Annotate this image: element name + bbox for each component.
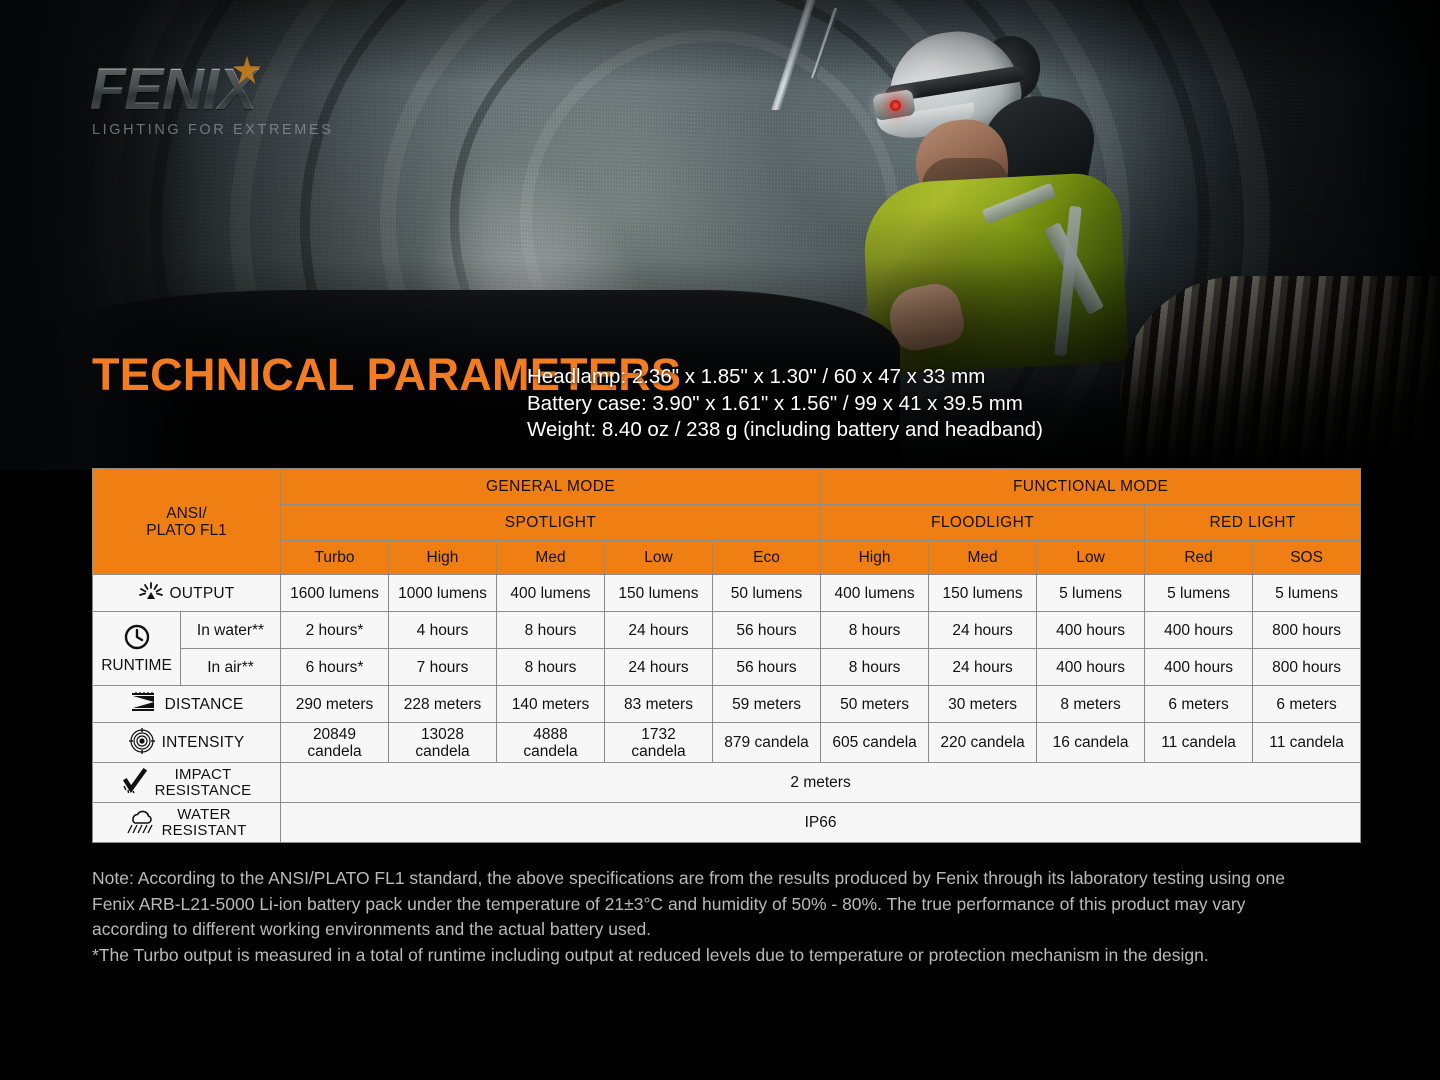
product-spec-page: FENIX LIGHTING FOR EXTREMES TECHNICAL PA…: [0, 0, 1440, 1080]
cell-output-flood-low: 5 lumens: [1037, 575, 1145, 612]
cell-output-spot-high: 1000 lumens: [389, 575, 497, 612]
cell-runtime-water-flood-low: 400 hours: [1037, 612, 1145, 649]
level-spot-low: Low: [605, 541, 713, 575]
table-header-level-row: Turbo High Med Low Eco High Med Low Red …: [93, 541, 1361, 575]
row-label-runtime: RUNTIME: [93, 612, 181, 686]
cell-output-flood-med: 150 lumens: [929, 575, 1037, 612]
brand-tagline: LIGHTING FOR EXTREMES: [92, 122, 334, 138]
cell-runtime-water-turbo: 2 hours*: [281, 612, 389, 649]
cell-runtime-air-turbo: 6 hours*: [281, 649, 389, 686]
level-spot-eco: Eco: [713, 541, 821, 575]
cell-intensity-flood-med: 220 candela: [929, 723, 1037, 763]
table-header-mode-row: ANSI/ PLATO FL1 GENERAL MODE FUNCTIONAL …: [93, 469, 1361, 505]
row-label-water-resistant: WATERRESISTANT: [93, 803, 281, 843]
row-label-impact-resistance: IMPACTRESISTANCE: [93, 763, 281, 803]
cell-intensity-flood-high: 605 candela: [821, 723, 929, 763]
header-general-mode: GENERAL MODE: [281, 469, 821, 505]
level-red: Red: [1145, 541, 1253, 575]
table-row-runtime-in-air: In air** 6 hours* 7 hours 8 hours 24 hou…: [93, 649, 1361, 686]
row-label-distance: DISTANCE: [93, 686, 281, 723]
cell-output-flood-high: 400 lumens: [821, 575, 929, 612]
cell-intensity-sos: 11 candela: [1253, 723, 1361, 763]
level-spot-high: High: [389, 541, 497, 575]
level-flood-high: High: [821, 541, 929, 575]
cell-distance-flood-med: 30 meters: [929, 686, 1037, 723]
cell-output-spot-eco: 50 lumens: [713, 575, 821, 612]
cell-distance-red: 6 meters: [1145, 686, 1253, 723]
row-label-runtime-text: RUNTIME: [95, 657, 178, 674]
level-flood-low: Low: [1037, 541, 1145, 575]
cell-water-resistant-value: IP66: [281, 803, 1361, 843]
corner-line-1: ANSI/: [95, 505, 278, 522]
cell-distance-sos: 6 meters: [1253, 686, 1361, 723]
header-floodlight: FLOODLIGHT: [821, 505, 1145, 541]
cell-runtime-air-spot-low: 24 hours: [605, 649, 713, 686]
level-flood-med: Med: [929, 541, 1037, 575]
table-corner-label: ANSI/ PLATO FL1: [93, 469, 281, 575]
cell-intensity-spot-low: 1732 candela: [605, 723, 713, 763]
cell-intensity-spot-med: 4888 candela: [497, 723, 605, 763]
row-sublabel-in-air: In air**: [181, 649, 281, 686]
row-label-output-text: OUTPUT: [170, 585, 235, 602]
table-header-beam-row: SPOTLIGHT FLOODLIGHT RED LIGHT: [93, 505, 1361, 541]
level-spot-med: Med: [497, 541, 605, 575]
sun-burst-icon: [139, 581, 163, 605]
dimensions-text: Headlamp: 2.36" x 1.85" x 1.30" / 60 x 4…: [527, 364, 1043, 444]
cell-intensity-red: 11 candela: [1145, 723, 1253, 763]
intensity-target-icon: [129, 728, 155, 758]
row-sublabel-in-water: In water**: [181, 612, 281, 649]
cell-runtime-air-spot-high: 7 hours: [389, 649, 497, 686]
fenix-logo: FENIX LIGHTING FOR EXTREMES: [90, 60, 340, 152]
cell-runtime-air-flood-low: 400 hours: [1037, 649, 1145, 686]
table-row-runtime-in-water: RUNTIME In water** 2 hours* 4 hours 8 ho…: [93, 612, 1361, 649]
cell-output-spot-med: 400 lumens: [497, 575, 605, 612]
cell-distance-spot-eco: 59 meters: [713, 686, 821, 723]
table-row-water-resistant: WATERRESISTANT IP66: [93, 803, 1361, 843]
level-sos: SOS: [1253, 541, 1361, 575]
impact-line-1: IMPACT: [155, 767, 252, 783]
cell-distance-spot-low: 83 meters: [605, 686, 713, 723]
brand-wordmark: FENIX: [90, 60, 340, 120]
table-row-impact-resistance: IMPACTRESISTANCE 2 meters: [93, 763, 1361, 803]
cell-runtime-air-spot-eco: 56 hours: [713, 649, 821, 686]
cell-runtime-air-spot-med: 8 hours: [497, 649, 605, 686]
water-line-1: WATER: [162, 807, 247, 823]
cell-runtime-air-flood-high: 8 hours: [821, 649, 929, 686]
table-row-output: OUTPUT 1600 lumens 1000 lumens 400 lumen…: [93, 575, 1361, 612]
header-spotlight: SPOTLIGHT: [281, 505, 821, 541]
impact-check-icon: [122, 768, 148, 798]
cell-impact-resistance-value: 2 meters: [281, 763, 1361, 803]
beam-distance-icon: [130, 691, 158, 717]
technical-parameters-table: ANSI/ PLATO FL1 GENERAL MODE FUNCTIONAL …: [92, 468, 1361, 843]
impact-line-2: RESISTANCE: [155, 783, 252, 799]
cell-runtime-water-spot-eco: 56 hours: [713, 612, 821, 649]
water-line-2: RESISTANT: [162, 823, 247, 839]
table-row-intensity: INTENSITY 20849 candela 13028 candela 48…: [93, 723, 1361, 763]
cell-runtime-water-red: 400 hours: [1145, 612, 1253, 649]
cell-runtime-water-sos: 800 hours: [1253, 612, 1361, 649]
row-label-water-text: WATERRESISTANT: [162, 807, 247, 839]
cell-output-sos: 5 lumens: [1253, 575, 1361, 612]
cell-output-red: 5 lumens: [1145, 575, 1253, 612]
spec-table-wrap: ANSI/ PLATO FL1 GENERAL MODE FUNCTIONAL …: [92, 468, 1350, 843]
cell-runtime-water-flood-high: 8 hours: [821, 612, 929, 649]
cell-intensity-flood-low: 16 candela: [1037, 723, 1145, 763]
row-label-distance-text: DISTANCE: [165, 696, 244, 713]
cell-intensity-spot-high: 13028 candela: [389, 723, 497, 763]
cell-output-turbo: 1600 lumens: [281, 575, 389, 612]
header-red-light: RED LIGHT: [1145, 505, 1361, 541]
cell-runtime-water-spot-low: 24 hours: [605, 612, 713, 649]
cell-intensity-spot-eco: 879 candela: [713, 723, 821, 763]
row-label-impact-text: IMPACTRESISTANCE: [155, 767, 252, 799]
rain-cloud-icon: [127, 808, 155, 838]
header-functional-mode: FUNCTIONAL MODE: [821, 469, 1361, 505]
row-label-intensity-text: INTENSITY: [162, 734, 245, 751]
cell-intensity-turbo: 20849 candela: [281, 723, 389, 763]
cell-output-spot-low: 150 lumens: [605, 575, 713, 612]
cell-runtime-water-flood-med: 24 hours: [929, 612, 1037, 649]
row-label-output: OUTPUT: [93, 575, 281, 612]
clock-icon: [95, 623, 178, 655]
footnote-text: Note: According to the ANSI/PLATO FL1 st…: [92, 866, 1322, 968]
cell-distance-spot-med: 140 meters: [497, 686, 605, 723]
level-turbo: Turbo: [281, 541, 389, 575]
cell-runtime-air-sos: 800 hours: [1253, 649, 1361, 686]
cell-runtime-water-spot-med: 8 hours: [497, 612, 605, 649]
cell-distance-flood-low: 8 meters: [1037, 686, 1145, 723]
cell-distance-turbo: 290 meters: [281, 686, 389, 723]
cell-runtime-air-flood-med: 24 hours: [929, 649, 1037, 686]
cell-distance-flood-high: 50 meters: [821, 686, 929, 723]
table-row-distance: DISTANCE 290 meters 228 meters 140 meter…: [93, 686, 1361, 723]
corner-line-2: PLATO FL1: [95, 522, 278, 539]
cell-runtime-water-spot-high: 4 hours: [389, 612, 497, 649]
row-label-intensity: INTENSITY: [93, 723, 281, 763]
cell-runtime-air-red: 400 hours: [1145, 649, 1253, 686]
cell-distance-spot-high: 228 meters: [389, 686, 497, 723]
